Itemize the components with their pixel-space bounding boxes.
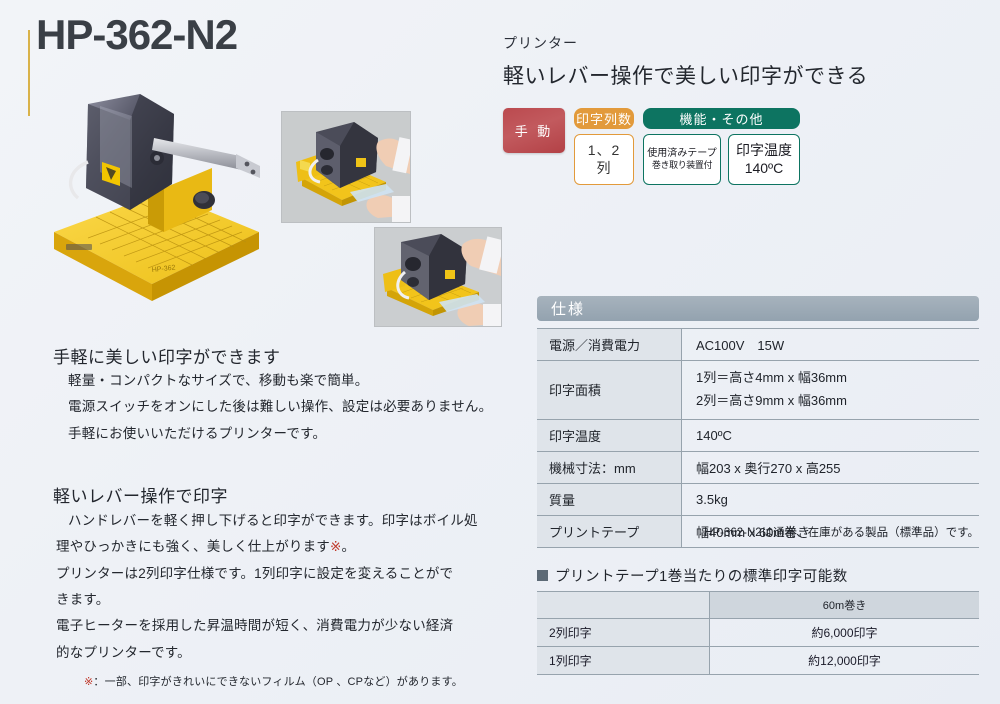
- badge-chip-used-tape-rewinder: 使用済みテープ 巻き取り装置付: [643, 134, 721, 185]
- feature-2-body: ハンドレバーを軽く押し下げると印字ができます。印字はボイル処 理やひっかきにも強…: [68, 508, 478, 666]
- spec-label: 質量: [537, 483, 682, 515]
- feature-1-line-2: 電源スイッチをオンにした後は難しい操作、設定は必要ありません。: [68, 394, 492, 420]
- product-main-photo: HP-362: [44, 92, 274, 307]
- feature-1-body: 軽量・コンパクトなサイズで、移動も楽で簡単。 電源スイッチをオンにした後は難しい…: [68, 368, 492, 447]
- product-inset-photo-2: [375, 228, 501, 326]
- feature-2-line-2-text: 理やひっかきにも強く、美しく仕上がります※。: [56, 539, 355, 554]
- badge-chip-print-temperature: 印字温度 140ºC: [728, 134, 800, 185]
- tape-table: 60m巻き 2列印字 約6,000印字 1列印字 約12,000印字: [537, 591, 979, 675]
- printer-hand-operation-illustration-2: [375, 228, 501, 326]
- badge-manual: 手 動: [503, 108, 565, 153]
- spec-value: 140ºC: [682, 419, 980, 451]
- tape-row-label: 1列印字: [537, 647, 710, 675]
- spec-stock-note: HP-362-N2は通常、在庫がある製品（標準品）です。: [537, 524, 979, 540]
- table-row: 質量 3.5kg: [537, 483, 979, 515]
- feature-2-line-1: ハンドレバーを軽く押し下げると印字ができます。印字はボイル処: [68, 508, 478, 534]
- chip-line-1: 使用済みテープ: [647, 148, 716, 161]
- tape-row-value: 約6,000印字: [710, 619, 980, 647]
- footnote: ※：一部、印字がきれいにできないフィルム（OP 、CPなど）があります。: [84, 673, 463, 689]
- kome-marker-inline: ※: [330, 539, 342, 554]
- printer-illustration: HP-362: [44, 92, 274, 307]
- spec-value: 3.5kg: [682, 483, 980, 515]
- product-category: プリンター: [503, 33, 578, 53]
- badge-group-header: 機能・その他: [643, 108, 800, 129]
- spec-label: 機械寸法：mm: [537, 451, 682, 483]
- tape-col-blank: [537, 592, 710, 619]
- chip-line-1: 1、2: [588, 142, 621, 160]
- spec-table-title: 仕様: [537, 296, 979, 321]
- tape-col-60m: 60m巻き: [710, 592, 980, 619]
- page-title: HP-362-N2: [36, 14, 237, 56]
- feature-1-line-1: 軽量・コンパクトなサイズで、移動も楽で簡単。: [68, 368, 492, 394]
- spec-value: AC100V 15W: [682, 329, 980, 361]
- gold-horizontal-rule: [0, 63, 492, 65]
- table-header-row: 60m巻き: [537, 592, 979, 619]
- chip-line-2: 140ºC: [745, 160, 784, 178]
- chip-line-2: 列: [597, 160, 612, 178]
- tape-table-title-text: プリントテープ1巻当たりの標準印字可能数: [555, 565, 848, 586]
- badge-chip-print-columns: 1、2 列: [574, 134, 634, 185]
- gold-vertical-rule: [28, 30, 30, 116]
- chip-line-1: 印字温度: [736, 142, 792, 160]
- feature-2-line-3: プリンターは2列印字仕様です。1列印字に設定を変えることがで: [56, 561, 478, 587]
- product-inset-photo-1: [282, 112, 410, 222]
- table-row: 2列印字 約6,000印字: [537, 619, 979, 647]
- spec-value-line-1: 1列＝高さ4mm x 幅36mm: [696, 367, 979, 390]
- spec-value-line-2: 2列＝高さ9mm x 幅36mm: [696, 390, 979, 413]
- feature-1-heading: 手軽に美しい印字ができます: [53, 343, 281, 368]
- feature-1-line-3: 手軽にお使いいただけるプリンターです。: [68, 421, 492, 447]
- tape-row-value: 約12,000印字: [710, 647, 980, 675]
- footnote-text: ：一部、印字がきれいにできないフィルム（OP 、CPなど）があります。: [93, 676, 463, 688]
- tape-table-title: プリントテープ1巻当たりの標準印字可能数: [537, 565, 848, 586]
- tape-row-label: 2列印字: [537, 619, 710, 647]
- product-tagline: 軽いレバー操作で美しい印字ができる: [503, 60, 868, 90]
- spec-table: 電源／消費電力 AC100V 15W 印字面積 1列＝高さ4mm x 幅36mm…: [537, 328, 979, 548]
- printer-hand-operation-illustration-1: [282, 112, 410, 222]
- feature-2-line-2: 理やひっかきにも強く、美しく仕上がります※。: [56, 534, 478, 560]
- table-row: 印字面積 1列＝高さ4mm x 幅36mm 2列＝高さ9mm x 幅36mm: [537, 361, 979, 420]
- square-bullet-icon: [537, 570, 548, 581]
- feature-2-line-6: 的なプリンターです。: [56, 640, 478, 666]
- feature-badges: 手 動 印字列数 1、2 列 機能・その他 使用済みテープ 巻き取り装置付 印字…: [503, 108, 800, 185]
- table-row: 機械寸法：mm 幅203 x 奥行270 x 高255: [537, 451, 979, 483]
- spec-table-block: 仕様 電源／消費電力 AC100V 15W 印字面積 1列＝高さ4mm x 幅3…: [537, 296, 979, 548]
- footnote-marker: ※: [84, 676, 93, 688]
- spec-label: 印字面積: [537, 361, 682, 420]
- badge-group-header: 印字列数: [574, 108, 634, 129]
- spec-label: 電源／消費電力: [537, 329, 682, 361]
- spec-value: 幅203 x 奥行270 x 高255: [682, 451, 980, 483]
- chip-line-2: 巻き取り装置付: [652, 160, 712, 171]
- table-row: 電源／消費電力 AC100V 15W: [537, 329, 979, 361]
- badge-group-print-columns: 印字列数 1、2 列: [574, 108, 634, 185]
- feature-2-line-5: 電子ヒーターを採用した昇温時間が短く、消費電力が少ない経済: [56, 613, 478, 639]
- spec-value: 1列＝高さ4mm x 幅36mm 2列＝高さ9mm x 幅36mm: [682, 361, 980, 420]
- feature-2-heading: 軽いレバー操作で印字: [53, 482, 228, 507]
- feature-2-line-4: きます。: [56, 587, 478, 613]
- badge-group-functions: 機能・その他 使用済みテープ 巻き取り装置付 印字温度 140ºC: [643, 108, 800, 185]
- catalog-page: HP-362-N2 プリンター 軽いレバー操作で美しい印字ができる 手 動 印字…: [0, 0, 1000, 704]
- spec-label: 印字温度: [537, 419, 682, 451]
- table-row: 1列印字 約12,000印字: [537, 647, 979, 675]
- table-row: 印字温度 140ºC: [537, 419, 979, 451]
